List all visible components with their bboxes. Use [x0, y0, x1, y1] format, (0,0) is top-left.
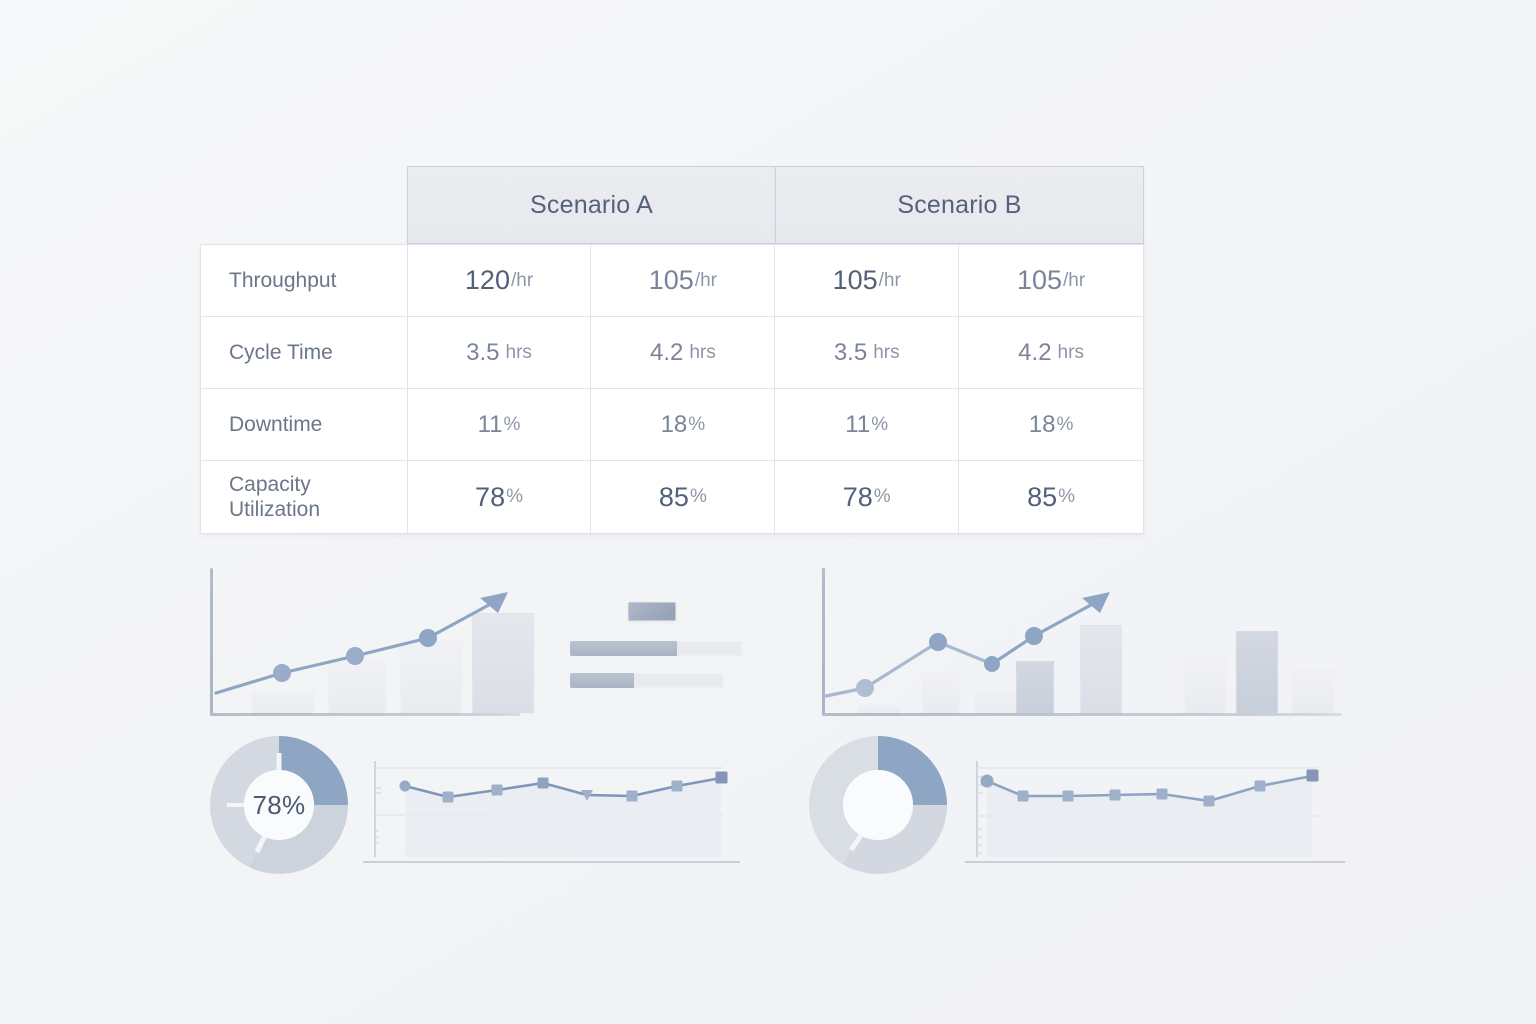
row-label-throughput: Throughput [201, 245, 408, 316]
scenario-b-sparkline[interactable] [955, 757, 1345, 869]
cell-value: 105 [1017, 265, 1062, 296]
data-point [1157, 789, 1168, 800]
scenario-a-trend-panel [210, 568, 740, 718]
cell-downtime-a2: 18 % [591, 389, 775, 460]
legend-chip [628, 602, 676, 621]
cell-unit: hrs [873, 342, 899, 364]
row-label-downtime: Downtime [201, 389, 408, 460]
cell-value: 11 [478, 411, 503, 439]
cell-value: 78 [475, 482, 505, 513]
data-point [419, 629, 437, 647]
cell-unit: /hr [511, 270, 533, 292]
cell-value: 3.5 [834, 339, 867, 367]
data-point [1018, 791, 1029, 802]
data-point [984, 656, 1000, 672]
cell-unit: /hr [879, 270, 901, 292]
cell-unit: % [1056, 414, 1073, 436]
cell-capacity-b1: 78 % [775, 461, 959, 533]
data-point [981, 775, 994, 788]
cell-unit: % [871, 414, 888, 436]
data-point [1063, 791, 1074, 802]
data-point [346, 647, 364, 665]
cell-unit: % [688, 414, 705, 436]
table-header-scenario-a[interactable]: Scenario A [407, 166, 775, 244]
cell-capacity-a1: 78 % [408, 461, 592, 533]
trend-line-overlay [822, 568, 1142, 716]
row-label-cycle-time: Cycle Time [201, 317, 408, 388]
cell-value: 120 [465, 265, 510, 296]
cell-cycletime-a1: 3.5 hrs [408, 317, 592, 388]
donut-center-label [808, 735, 948, 875]
donut-center-label: 78% [209, 735, 349, 875]
row-label-line1: Capacity [229, 472, 320, 497]
cell-unit: /hr [695, 270, 717, 292]
scenario-b-chart-axes [822, 568, 1342, 716]
cell-unit: hrs [689, 342, 715, 364]
bar-s2 [1236, 631, 1278, 713]
cell-throughput-a2: 105 /hr [591, 245, 775, 316]
cell-unit: /hr [1063, 270, 1085, 292]
cell-capacity-b2: 85 % [959, 461, 1143, 533]
cell-value: 11 [845, 411, 870, 439]
cell-cycletime-a2: 4.2 hrs [591, 317, 775, 388]
cell-unit: % [504, 414, 521, 436]
cell-value: 4.2 [650, 339, 683, 367]
bar-s3 [1292, 669, 1334, 713]
data-point [627, 791, 638, 802]
trend-line-overlay [210, 568, 522, 716]
data-point [400, 781, 411, 792]
cell-unit: % [690, 486, 707, 508]
data-point [672, 781, 683, 792]
cell-value: 105 [649, 265, 694, 296]
row-label-capacity-utilization: Capacity Utilization [201, 461, 408, 533]
cell-throughput-b2: 105 /hr [959, 245, 1143, 316]
table-header-row: Scenario A Scenario B [407, 166, 1144, 244]
table-header-scenario-b[interactable]: Scenario B [775, 166, 1144, 244]
cell-capacity-a2: 85 % [591, 461, 775, 533]
cell-value: 18 [1029, 411, 1056, 439]
row-label-line2: Utilization [229, 497, 320, 522]
scenario-a-chart-axes [210, 568, 520, 716]
cell-value: 85 [659, 482, 689, 513]
table-row: Throughput 120 /hr 105 /hr 105 /hr 105 [201, 245, 1143, 317]
table-row: Capacity Utilization 78 % 85 % 78 % [201, 461, 1143, 533]
dashboard-canvas: Scenario A Scenario B Throughput 120 /hr… [0, 0, 1536, 1024]
cell-value: 4.2 [1018, 339, 1051, 367]
cell-downtime-b1: 11 % [775, 389, 959, 460]
arrow-head-icon [480, 592, 508, 613]
cell-cycletime-b2: 4.2 hrs [959, 317, 1143, 388]
cell-downtime-b2: 18 % [959, 389, 1143, 460]
cell-value: 85 [1027, 482, 1057, 513]
cell-unit: % [506, 486, 523, 508]
cell-downtime-a1: 11 % [408, 389, 592, 460]
data-point [538, 778, 549, 789]
data-point [443, 792, 454, 803]
cell-throughput-a1: 120 /hr [408, 245, 592, 316]
cell-unit: % [1058, 486, 1075, 508]
arrow-head-icon [1082, 592, 1110, 613]
scenario-b-capacity-donut[interactable] [808, 735, 948, 875]
data-point [856, 679, 874, 697]
cell-value: 105 [833, 265, 878, 296]
data-point [929, 633, 947, 651]
data-point [273, 664, 291, 682]
scenario-a-sparkline[interactable] [355, 757, 740, 869]
data-point [716, 772, 728, 784]
cell-unit: hrs [1058, 342, 1084, 364]
table-row: Downtime 11 % 18 % 11 % 18 [201, 389, 1143, 461]
cell-cycletime-b1: 3.5 hrs [775, 317, 959, 388]
data-point [492, 785, 503, 796]
cell-throughput-b1: 105 /hr [775, 245, 959, 316]
progress-bar-1 [570, 641, 742, 656]
data-point [1110, 790, 1121, 801]
scenario-a-capacity-donut[interactable]: 78% [209, 735, 349, 875]
table-row: Cycle Time 3.5 hrs 4.2 hrs 3.5 hrs 4.2 [201, 317, 1143, 389]
table-body: Throughput 120 /hr 105 /hr 105 /hr 105 [200, 244, 1144, 534]
progress-bar-2 [570, 673, 723, 688]
data-point [1204, 796, 1215, 807]
cell-value: 18 [661, 411, 688, 439]
cell-value: 3.5 [466, 339, 499, 367]
data-point [1025, 627, 1043, 645]
bar-s1 [1184, 657, 1226, 713]
cell-value: 78 [843, 482, 873, 513]
scenario-b-trend-panel [822, 568, 1352, 718]
data-point [1255, 781, 1266, 792]
cell-unit: % [874, 486, 891, 508]
cell-unit: hrs [506, 342, 532, 364]
data-point [1307, 770, 1319, 782]
